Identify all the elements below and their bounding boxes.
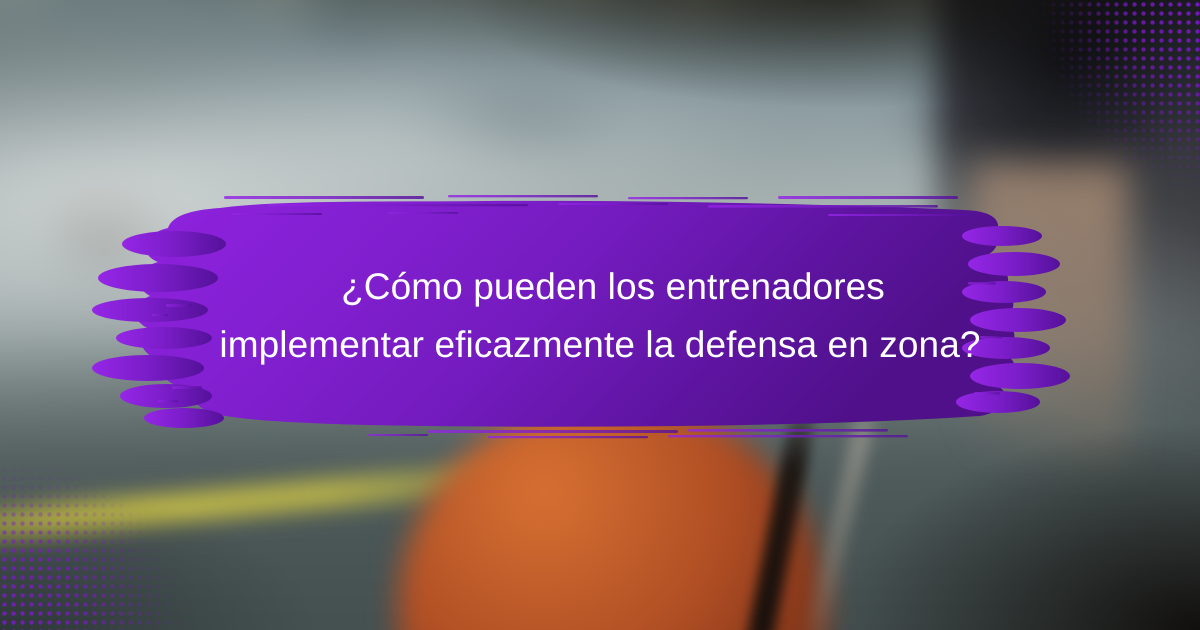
headline: ¿Cómo pueden los entrenadores implementa…: [150, 258, 1050, 374]
headline-line-1: ¿Cómo pueden los entrenadores: [150, 258, 1050, 316]
halftone-dots-bottom-left-icon: [0, 465, 190, 630]
headline-line-2: implementar eficazmente la defensa en zo…: [150, 316, 1050, 374]
brush-bottom-streaks: [368, 429, 908, 438]
halftone-dots-top-right-icon: [1040, 0, 1200, 210]
social-share-card: ¿Cómo pueden los entrenadores implementa…: [0, 0, 1200, 630]
